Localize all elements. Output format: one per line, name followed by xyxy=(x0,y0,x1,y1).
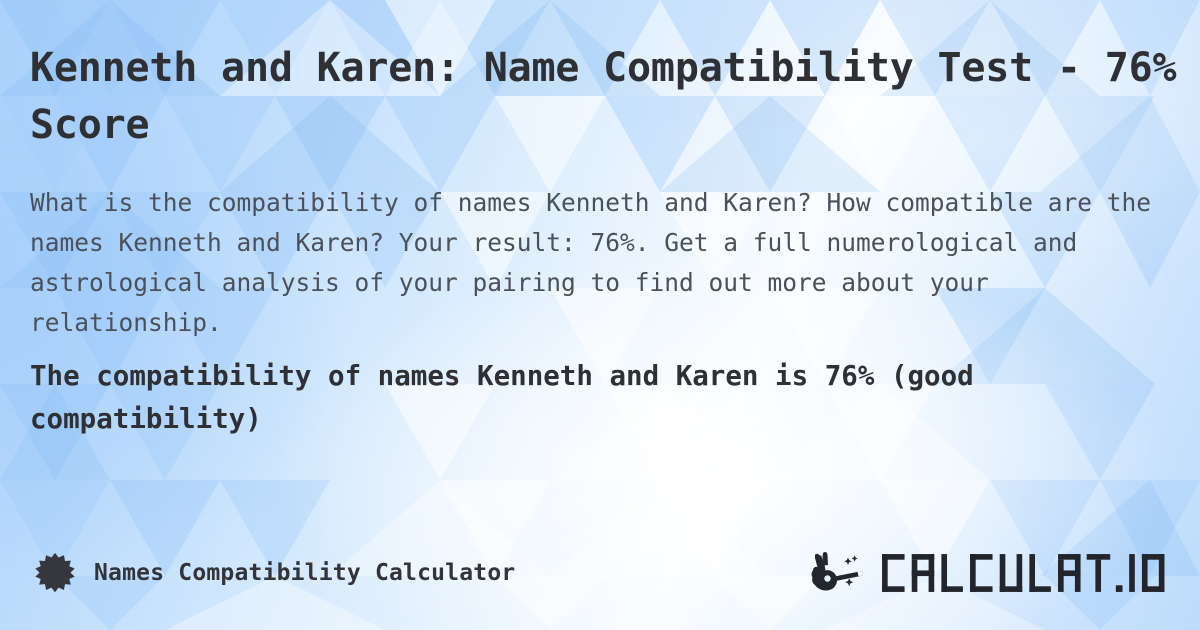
page-title: Kenneth and Karen: Name Compatibility Te… xyxy=(30,40,1180,154)
logo-wordmark xyxy=(880,551,1167,595)
wand-hand-icon xyxy=(810,551,872,595)
social-share-card: Kenneth and Karen: Name Compatibility Te… xyxy=(0,0,1200,630)
card-content: Kenneth and Karen: Name Compatibility Te… xyxy=(0,0,1200,630)
compatibility-result-statement: The compatibility of names Kenneth and K… xyxy=(30,355,1175,440)
brand-block: Names Compatibility Calculator xyxy=(34,552,515,594)
logo-wordmark-glyphs xyxy=(880,551,1167,595)
card-footer: Names Compatibility Calculator xyxy=(0,542,1200,604)
calculatio-logo[interactable] xyxy=(810,551,1167,595)
starburst-icon xyxy=(34,552,76,594)
intro-description: What is the compatibility of names Kenne… xyxy=(30,183,1170,343)
brand-label: Names Compatibility Calculator xyxy=(94,560,515,586)
